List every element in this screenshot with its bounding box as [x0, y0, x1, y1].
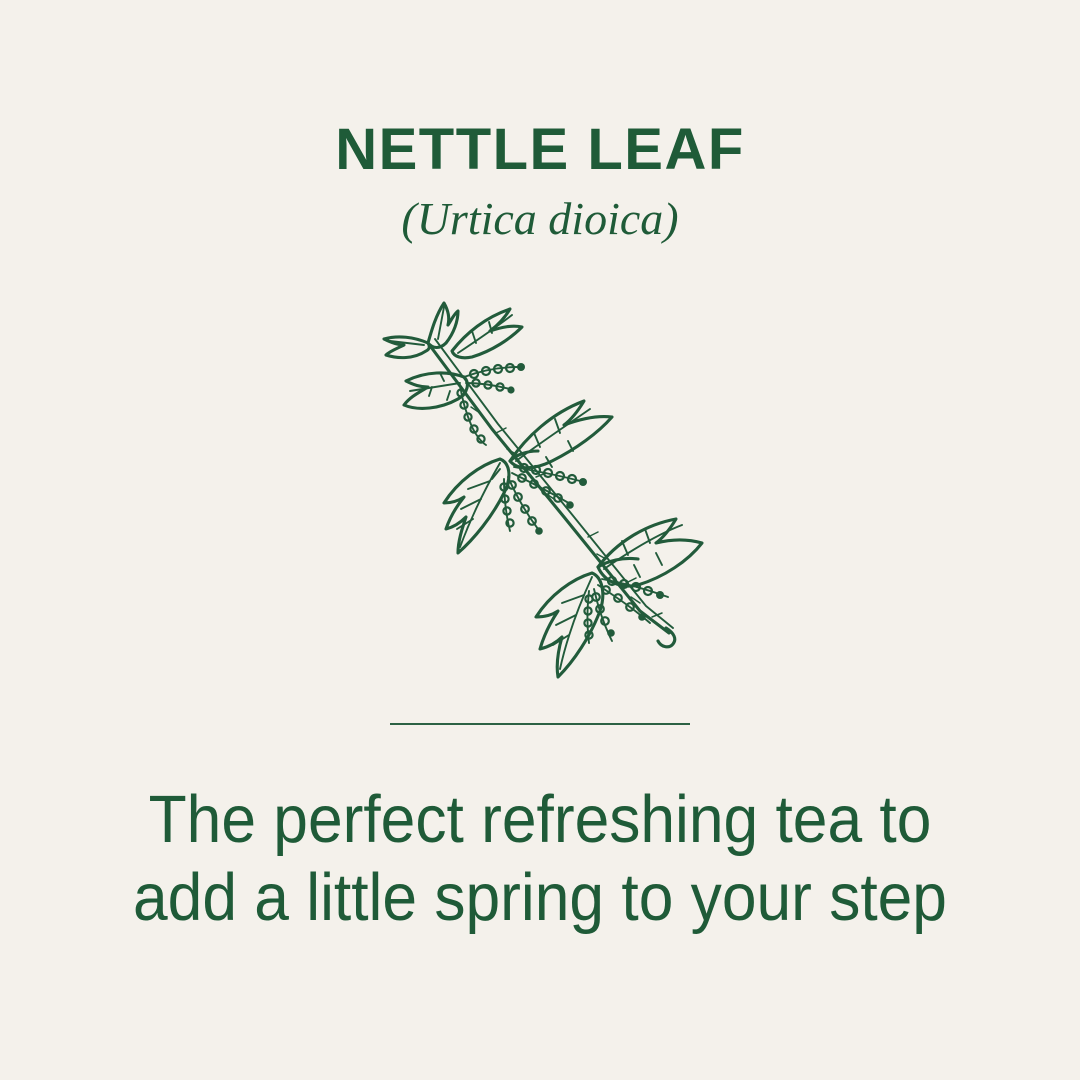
- nettle-sprig-icon: [330, 281, 750, 681]
- mid-node: [444, 401, 612, 553]
- page-title: NETTLE LEAF: [0, 120, 1080, 180]
- nettle-illustration: [330, 281, 750, 681]
- section-divider: [390, 723, 690, 725]
- tagline-line-2: add a little spring to your step: [80, 859, 1001, 937]
- tagline: The perfect refreshing tea to add a litt…: [80, 781, 1001, 938]
- nettle-leaf-card: NETTLE LEAF (Urtica dioica): [0, 0, 1080, 1080]
- flower-catkin-top: [457, 363, 525, 445]
- tagline-line-1: The perfect refreshing tea to: [80, 781, 1001, 859]
- botanical-name: (Urtica dioica): [0, 194, 1080, 245]
- heading-block: NETTLE LEAF (Urtica dioica): [0, 120, 1080, 245]
- lower-node: [536, 519, 702, 677]
- top-leaf-cluster: [384, 303, 522, 408]
